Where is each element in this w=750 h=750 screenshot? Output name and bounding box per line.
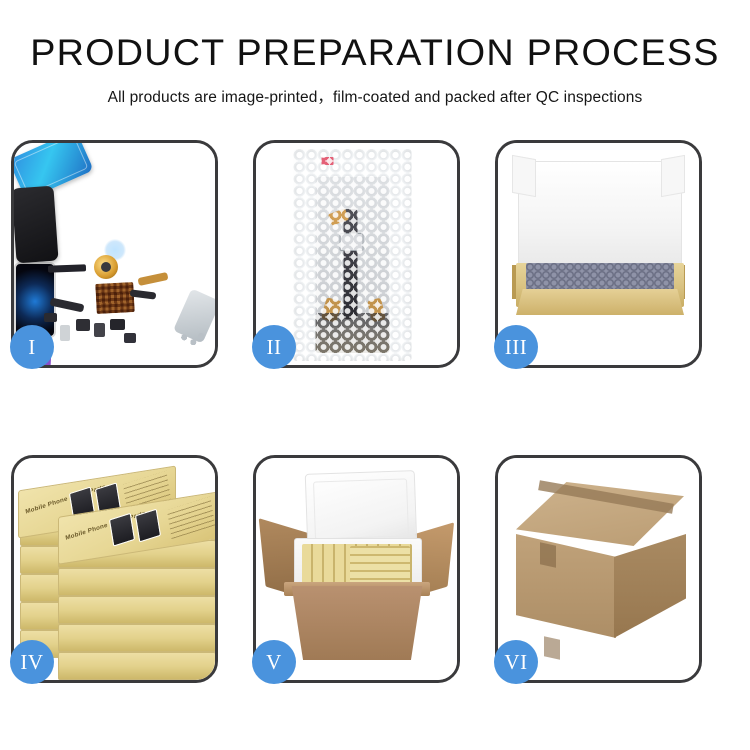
box-stack: Mobile Phone Spare Parts Mobile Phone Sp…	[18, 474, 215, 670]
bubble-wrap-bag	[294, 149, 412, 361]
screws-group	[179, 331, 205, 347]
box-lid-flap-right	[661, 155, 685, 197]
stacked-box-7	[58, 568, 215, 596]
process-steps-grid: I II	[11, 140, 739, 680]
step-panel-4[interactable]: Mobile Phone Spare Parts Mobile Phone Sp…	[11, 455, 218, 683]
carton-tab-lower	[544, 636, 560, 659]
box-screen-image-3	[109, 513, 135, 547]
sealed-carton-side	[614, 534, 686, 638]
box-lid-flap-left	[512, 155, 536, 197]
small-component-1	[76, 319, 90, 331]
chip-array-part	[95, 282, 135, 314]
box-screen-image-4	[135, 509, 161, 543]
step-badge-2: II	[252, 325, 296, 369]
page-header: PRODUCT PREPARATION PROCESS All products…	[0, 0, 750, 107]
foam-lid-open	[305, 470, 418, 548]
kraft-box-front	[516, 289, 684, 315]
stacked-box-10	[58, 652, 215, 680]
page-subtitle: All products are image-printed，film-coat…	[0, 85, 750, 107]
pink-qc-label	[322, 157, 334, 165]
small-component-6	[44, 313, 57, 322]
grey-foam-filling	[526, 263, 674, 291]
phone-black-frame	[14, 186, 59, 264]
carton-body	[286, 586, 428, 660]
small-component-5	[124, 333, 136, 343]
page-title: PRODUCT PREPARATION PROCESS	[0, 34, 750, 71]
sealed-carton-front	[516, 534, 616, 638]
step-badge-6: VI	[494, 640, 538, 684]
small-component-3	[110, 319, 125, 330]
step-panel-3[interactable]: III	[495, 140, 702, 368]
step-panel-6[interactable]: VI	[495, 455, 702, 683]
step-panel-2[interactable]: II	[253, 140, 460, 368]
wrapped-connector	[340, 233, 364, 251]
stacked-box-9	[58, 624, 215, 652]
small-component-2	[94, 323, 105, 337]
step-badge-5: V	[252, 640, 296, 684]
yellow-boxes-row-2	[350, 546, 410, 586]
step-badge-4: IV	[10, 640, 54, 684]
step-panel-5[interactable]: V	[253, 455, 460, 683]
carton-tab-upper	[540, 542, 556, 567]
product-preparation-page: PRODUCT PREPARATION PROCESS All products…	[0, 0, 750, 750]
flex-strip-part	[48, 264, 86, 272]
step-badge-3: III	[494, 325, 538, 369]
speaker-coil-part	[94, 255, 118, 279]
stacked-box-8	[58, 596, 215, 624]
wrapped-flex-cable	[344, 209, 358, 319]
step-panel-1[interactable]: I	[11, 140, 218, 368]
box-spec-lines-2	[167, 496, 215, 539]
flex-cable-b	[137, 272, 168, 286]
wrapped-bottom-section	[316, 313, 390, 353]
foam-sheet-back	[518, 161, 682, 271]
small-component-4	[60, 325, 70, 341]
step-badge-1: I	[10, 325, 54, 369]
